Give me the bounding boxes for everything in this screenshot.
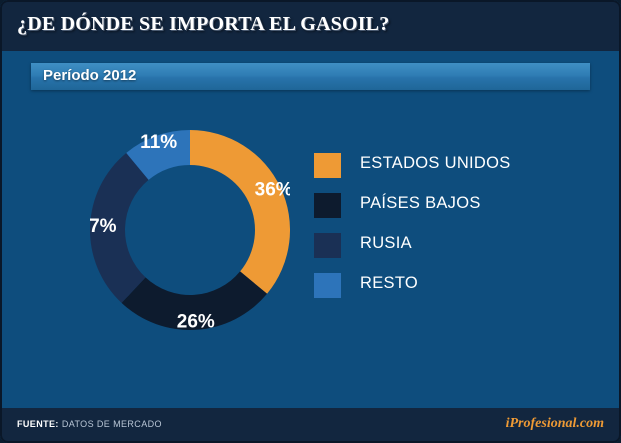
legend-label: RESTO — [360, 274, 418, 293]
legend-label: ESTADOS UNIDOS — [360, 154, 511, 173]
footer-source: FUENTE:DATOS DE MERCADO — [17, 419, 162, 429]
donut-slice-label: 36% — [255, 180, 290, 201]
donut-slice-label: 26% — [177, 311, 215, 330]
legend-swatch — [314, 233, 341, 258]
legend-swatch — [314, 153, 341, 178]
donut-slice — [190, 130, 290, 294]
legend-item[interactable]: RUSIA — [314, 230, 564, 270]
brand-logo: iProfesional.com — [506, 416, 604, 432]
donut-chart-svg: 36%26%27%11% — [90, 130, 290, 330]
legend-item[interactable]: RESTO — [314, 270, 564, 310]
legend-label: RUSIA — [360, 234, 412, 253]
legend-swatch — [314, 273, 341, 298]
legend-swatch — [314, 193, 341, 218]
page-title: ¿DE DÓNDE SE IMPORTA EL GASOIL? — [17, 13, 389, 36]
chart-legend: ESTADOS UNIDOSPAÍSES BAJOSRUSIARESTO — [314, 150, 564, 310]
donut-slices — [90, 130, 290, 330]
legend-item[interactable]: PAÍSES BAJOS — [314, 190, 564, 230]
footer-bar: FUENTE:DATOS DE MERCADO iProfesional.com — [0, 408, 621, 443]
footer-source-label: FUENTE: — [17, 419, 59, 429]
legend-item[interactable]: ESTADOS UNIDOS — [314, 150, 564, 190]
infographic-card: ¿DE DÓNDE SE IMPORTA EL GASOIL? Período … — [0, 0, 621, 443]
donut-chart: 36%26%27%11% — [90, 130, 290, 330]
donut-slice-label: 27% — [90, 216, 117, 237]
legend-label: PAÍSES BAJOS — [360, 194, 481, 213]
period-label: Período 2012 — [43, 67, 136, 84]
header-bar: ¿DE DÓNDE SE IMPORTA EL GASOIL? — [0, 0, 621, 51]
footer-source-value: DATOS DE MERCADO — [62, 419, 162, 429]
donut-slice-label: 11% — [140, 132, 177, 153]
period-band: Período 2012 — [31, 63, 590, 90]
